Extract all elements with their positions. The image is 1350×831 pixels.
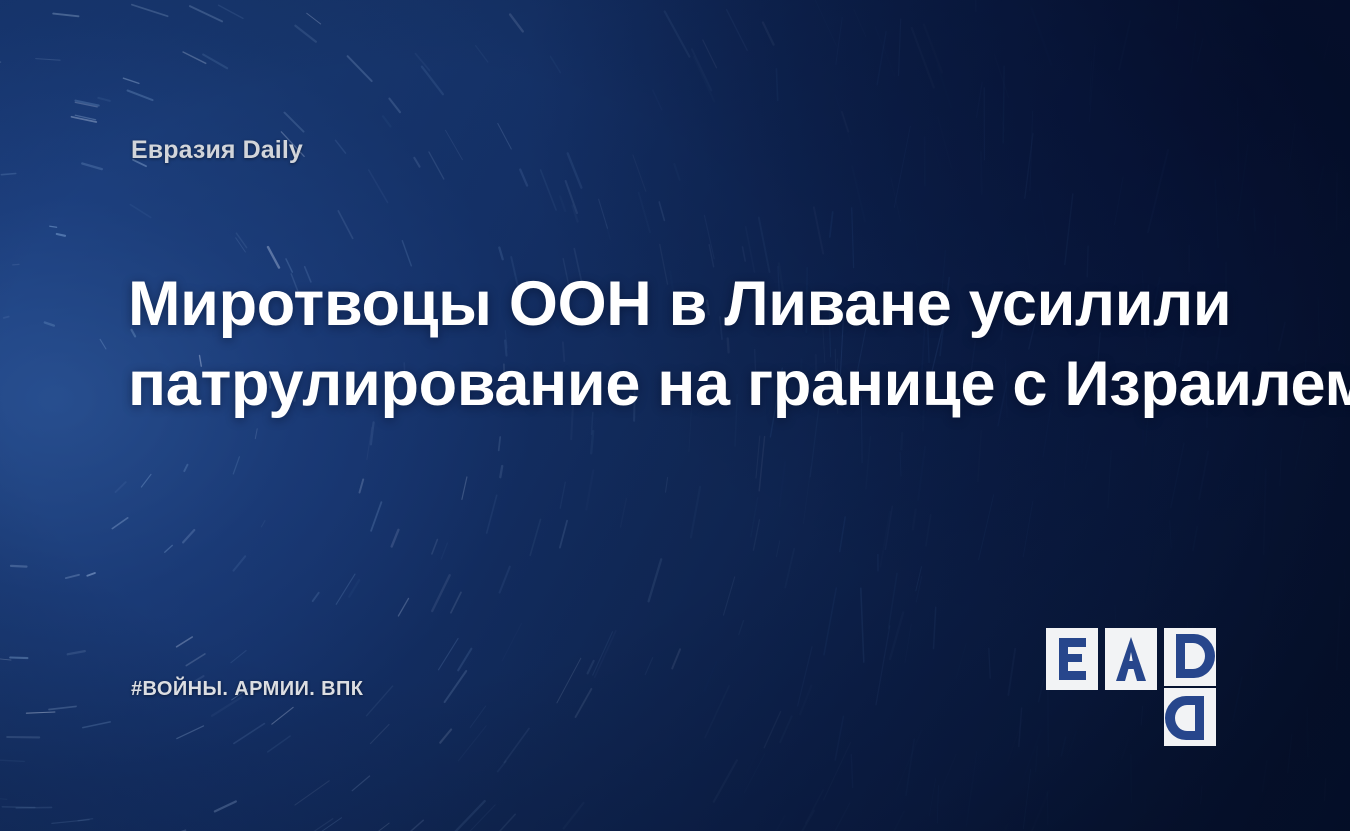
headline: Миротвоцы ООН в Ливане усилили патрулиро… <box>128 264 1238 424</box>
eadaily-logo <box>1046 628 1220 748</box>
logo-tile-e <box>1046 628 1098 690</box>
headline-line-1: Миротвоцы ООН в Ливане усилили <box>128 264 1238 344</box>
logo-tile-a <box>1105 628 1157 690</box>
logo-tile-d-upper <box>1164 628 1216 686</box>
headline-line-2: патрулирование на границе с Израилем <box>128 344 1238 424</box>
news-share-card: Евразия Daily Миротвоцы ООН в Ливане уси… <box>0 0 1350 831</box>
site-name: Евразия Daily <box>131 136 303 165</box>
logo-tile-d-lower <box>1164 688 1216 746</box>
logo-letter-e <box>1059 638 1086 680</box>
category-hashtag: #ВОЙНЫ. АРМИИ. ВПК <box>131 678 363 701</box>
